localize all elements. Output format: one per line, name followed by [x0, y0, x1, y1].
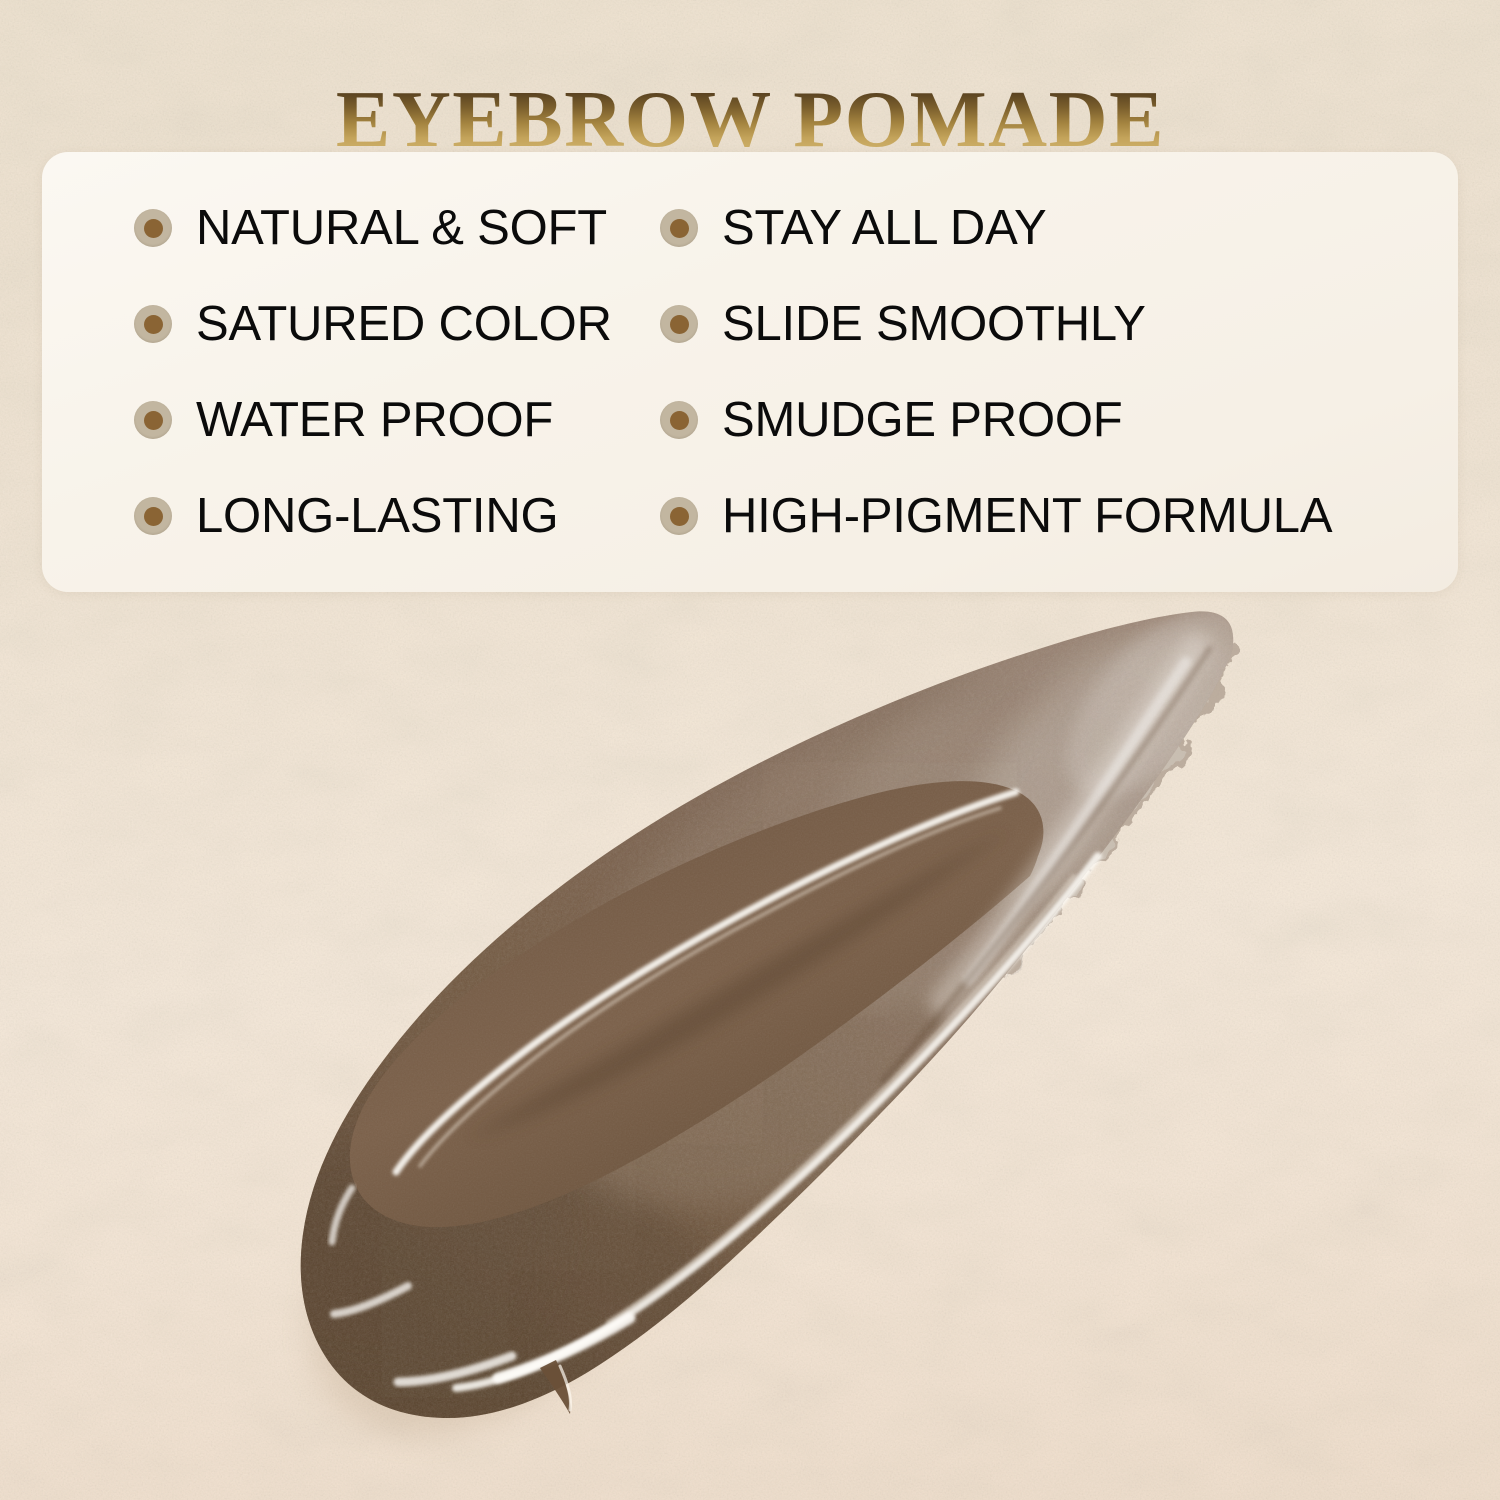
- feature-label: SMUDGE PROOF: [722, 396, 1123, 445]
- feature-item-smudge-proof: SMUDGE PROOF: [642, 372, 1458, 468]
- feature-item-natural-soft: NATURAL & SOFT: [42, 180, 642, 276]
- feature-label: STAY ALL DAY: [722, 204, 1046, 253]
- feature-item-satured-color: SATURED COLOR: [42, 276, 642, 372]
- feature-label: SLIDE SMOOTHLY: [722, 300, 1146, 349]
- feature-item-high-pigment-formula: HIGH-PIGMENT FORMULA: [642, 468, 1458, 564]
- feature-list-card: NATURAL & SOFT SATURED COLOR WATER PROOF…: [42, 152, 1458, 592]
- feature-item-stay-all-day: STAY ALL DAY: [642, 180, 1458, 276]
- page-title: EYEBROW POMADE: [335, 80, 1164, 160]
- feature-item-water-proof: WATER PROOF: [42, 372, 642, 468]
- feature-label: NATURAL & SOFT: [196, 204, 607, 253]
- swatch-body: [130, 562, 1292, 1500]
- feature-item-slide-smoothly: SLIDE SMOOTHLY: [642, 276, 1458, 372]
- feature-label: WATER PROOF: [196, 396, 553, 445]
- swatch-highlights: [332, 648, 1210, 1414]
- bullet-dot-icon: [134, 497, 172, 535]
- bullet-dot-icon: [134, 305, 172, 343]
- bullet-dot-icon: [134, 209, 172, 247]
- bullet-dot-icon: [660, 497, 698, 535]
- feature-label: HIGH-PIGMENT FORMULA: [722, 492, 1332, 541]
- feature-label: LONG-LASTING: [196, 492, 558, 541]
- swatch-shadow: [312, 650, 1204, 1435]
- feature-grid: NATURAL & SOFT SATURED COLOR WATER PROOF…: [42, 152, 1458, 592]
- bullet-dot-icon: [660, 209, 698, 247]
- feature-label: SATURED COLOR: [196, 300, 612, 349]
- swatch-left-lobe: [350, 781, 1044, 1227]
- bullet-dot-icon: [660, 305, 698, 343]
- product-feature-graphic: EYEBROW POMADE NATURAL & SOFT SATURED CO…: [0, 0, 1500, 1500]
- bullet-dot-icon: [660, 401, 698, 439]
- bullet-dot-icon: [134, 401, 172, 439]
- feature-item-long-lasting: LONG-LASTING: [42, 468, 642, 564]
- swatch-tip-feather: [922, 638, 1238, 1048]
